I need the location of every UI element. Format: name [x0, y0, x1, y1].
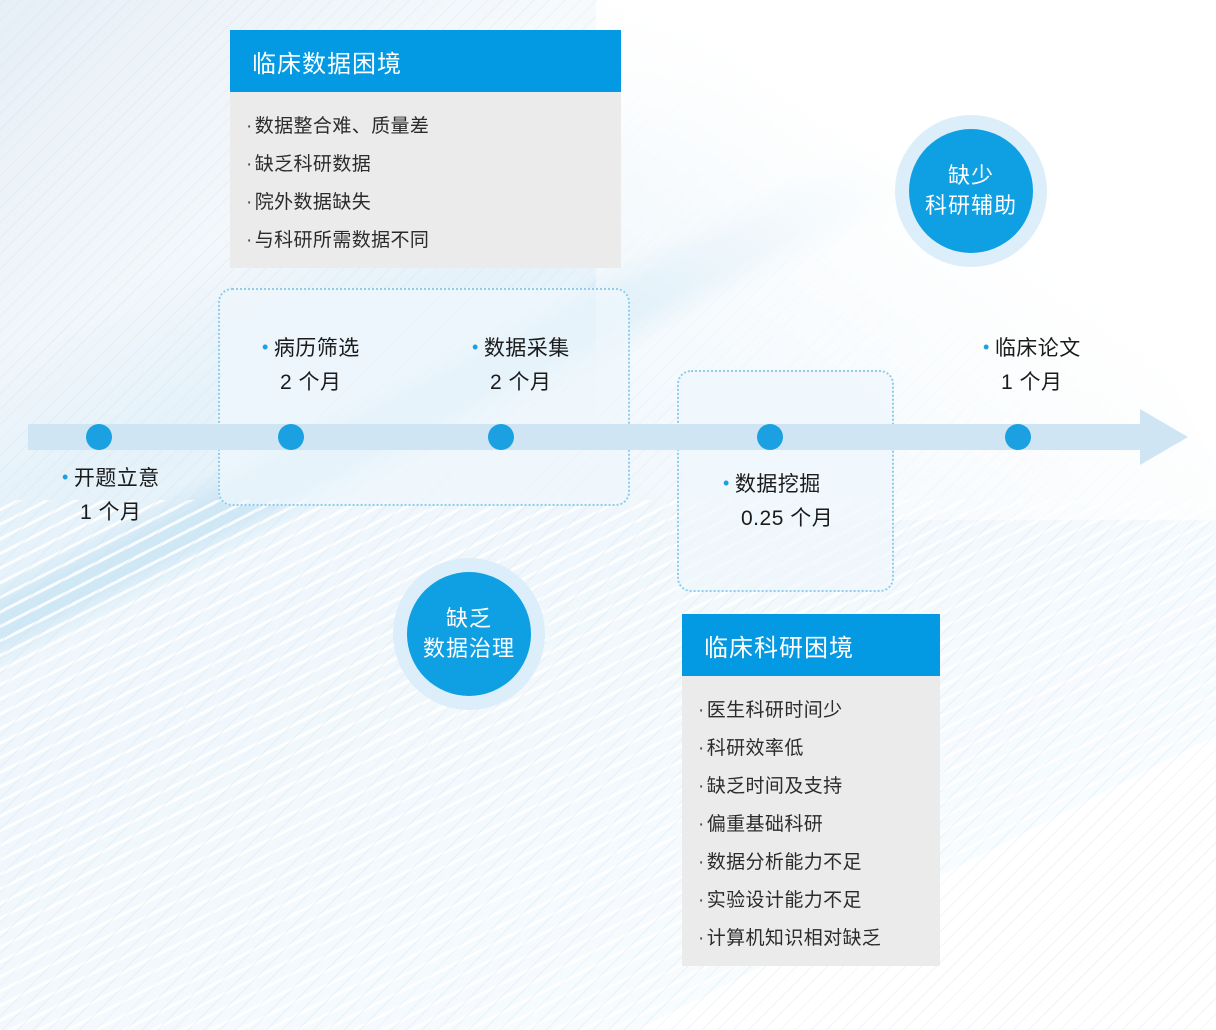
node-title: •临床论文	[983, 332, 1081, 364]
card-body: ·医生科研时间少 ·科研效率低 ·缺乏时间及支持 ·偏重基础科研 ·数据分析能力…	[682, 676, 940, 976]
node-title: •开题立意	[62, 462, 160, 494]
dot-icon: ·	[698, 814, 705, 835]
list-item: ·医生科研时间少	[698, 692, 920, 730]
badge-line-2: 科研辅助	[925, 191, 1017, 221]
bullet-icon: •	[472, 337, 479, 357]
dot-icon: ·	[246, 230, 253, 251]
dot-icon: ·	[246, 192, 253, 213]
info-card-clinical-research: 临床科研困境 ·医生科研时间少 ·科研效率低 ·缺乏时间及支持 ·偏重基础科研 …	[682, 614, 940, 966]
node-duration: 1 个月	[983, 364, 1081, 402]
node-title: •病历筛选	[262, 332, 360, 364]
timeline-node-dot-1[interactable]	[86, 424, 112, 450]
list-item: ·院外数据缺失	[246, 184, 601, 222]
timeline-node-dot-3[interactable]	[488, 424, 514, 450]
list-item: ·实验设计能力不足	[698, 882, 920, 920]
dot-icon: ·	[698, 700, 705, 721]
dot-icon: ·	[698, 852, 705, 873]
badge-line-1: 缺少	[948, 161, 994, 191]
timeline-node-label-5: •临床论文 1 个月	[983, 332, 1081, 402]
node-duration: 1 个月	[62, 494, 160, 532]
timeline-node-dot-2[interactable]	[278, 424, 304, 450]
background-stripes-bottom	[0, 500, 1216, 1030]
list-item: ·缺乏时间及支持	[698, 768, 920, 806]
list-item: ·偏重基础科研	[698, 806, 920, 844]
slide-canvas: •开题立意 1 个月 •病历筛选 2 个月 •数据采集 2 个月 •数据挖掘 0…	[0, 0, 1216, 1030]
badge-line-2: 数据治理	[423, 634, 515, 664]
card-item-list: ·医生科研时间少 ·科研效率低 ·缺乏时间及支持 ·偏重基础科研 ·数据分析能力…	[698, 692, 920, 958]
bullet-icon: •	[62, 467, 69, 487]
bullet-icon: •	[723, 473, 730, 493]
badge-line-1: 缺乏	[446, 604, 492, 634]
dot-icon: ·	[698, 738, 705, 759]
card-item-list: ·数据整合难、质量差 ·缺乏科研数据 ·院外数据缺失 ·与科研所需数据不同	[246, 108, 601, 260]
timeline-axis-bar	[28, 424, 1148, 450]
info-card-clinical-data: 临床数据困境 ·数据整合难、质量差 ·缺乏科研数据 ·院外数据缺失 ·与科研所需…	[230, 30, 621, 268]
timeline-node-label-2: •病历筛选 2 个月	[262, 332, 360, 402]
timeline-node-label-3: •数据采集 2 个月	[472, 332, 570, 402]
bullet-icon: •	[262, 337, 269, 357]
card-title: 临床科研困境	[682, 614, 940, 676]
list-item: ·缺乏科研数据	[246, 146, 601, 184]
badge-inner-circle: 缺少 科研辅助	[909, 129, 1033, 253]
node-duration: 2 个月	[472, 364, 570, 402]
list-item: ·数据分析能力不足	[698, 844, 920, 882]
card-title: 临床数据困境	[230, 30, 621, 92]
dot-icon: ·	[246, 154, 253, 175]
timeline-node-dot-4[interactable]	[757, 424, 783, 450]
node-title: •数据采集	[472, 332, 570, 364]
timeline-node-dot-5[interactable]	[1005, 424, 1031, 450]
dot-icon: ·	[246, 116, 253, 137]
node-duration: 2 个月	[262, 364, 360, 402]
timeline-arrow-head-icon	[1140, 409, 1188, 465]
badge-inner-circle: 缺乏 数据治理	[407, 572, 531, 696]
badge-data-governance: 缺乏 数据治理	[393, 558, 545, 710]
list-item: ·科研效率低	[698, 730, 920, 768]
list-item: ·与科研所需数据不同	[246, 222, 601, 260]
dot-icon: ·	[698, 928, 705, 949]
timeline-node-label-1: •开题立意 1 个月	[62, 462, 160, 532]
dot-icon: ·	[698, 890, 705, 911]
badge-research-assistance: 缺少 科研辅助	[895, 115, 1047, 267]
list-item: ·数据整合难、质量差	[246, 108, 601, 146]
node-duration: 0.25 个月	[723, 500, 833, 538]
dot-icon: ·	[698, 776, 705, 797]
node-title: •数据挖掘	[723, 468, 833, 500]
card-body: ·数据整合难、质量差 ·缺乏科研数据 ·院外数据缺失 ·与科研所需数据不同	[230, 92, 621, 278]
timeline-node-label-4: •数据挖掘 0.25 个月	[723, 468, 833, 538]
list-item: ·计算机知识相对缺乏	[698, 920, 920, 958]
bullet-icon: •	[983, 337, 990, 357]
